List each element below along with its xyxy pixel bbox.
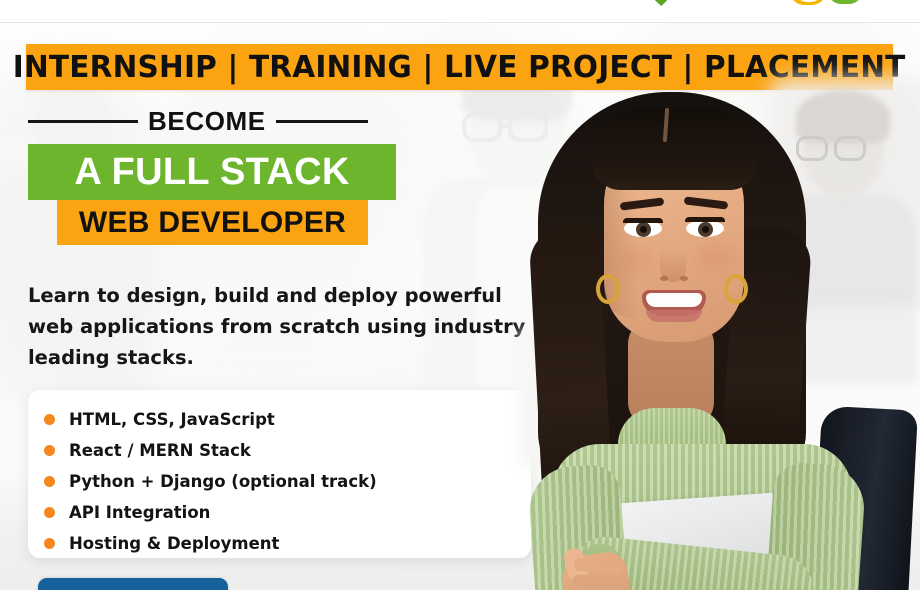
headline-block: BECOME A FULL STACK WEB DEVELOPER <box>28 106 428 245</box>
poster-canvas: INTERNSHIP | TRAINING | LIVE PROJECT | P… <box>0 0 920 590</box>
hoop-earring-right <box>724 274 748 304</box>
headline-band-orange: WEB DEVELOPER <box>57 200 368 245</box>
hair-fringe <box>592 108 758 190</box>
list-item: HTML, CSS, JavaScript <box>44 404 531 435</box>
feature-card: HTML, CSS, JavaScript React / MERN Stack… <box>28 390 531 558</box>
top-header-bar <box>0 0 920 23</box>
feature-label: API Integration <box>69 503 210 522</box>
headline-orange-text: WEB DEVELOPER <box>79 206 346 240</box>
bullet-dot-icon <box>44 414 55 425</box>
feature-label: HTML, CSS, JavaScript <box>69 410 275 429</box>
list-item: React / MERN Stack <box>44 435 531 466</box>
feature-label: Hosting & Deployment <box>69 534 279 553</box>
cta-button[interactable] <box>38 578 228 590</box>
kicker-text: BECOME <box>148 106 266 137</box>
hoop-earring-left <box>596 274 620 304</box>
kicker-rule-left <box>28 120 138 123</box>
kicker-row: BECOME <box>28 106 428 136</box>
headline-band-green: A FULL STACK <box>28 144 396 200</box>
top-header-inner <box>10 0 910 22</box>
kicker-rule-right <box>276 120 368 123</box>
list-item: Python + Django (optional track) <box>44 466 531 497</box>
feature-label: Python + Django (optional track) <box>69 472 377 491</box>
bullet-dot-icon <box>44 507 55 518</box>
bullet-dot-icon <box>44 445 55 456</box>
headline-green-text: A FULL STACK <box>74 151 349 194</box>
bullet-dot-icon <box>44 476 55 487</box>
list-item: Hosting & Deployment <box>44 528 531 559</box>
description-text: Learn to design, build and deploy powerf… <box>28 280 548 373</box>
bullet-dot-icon <box>44 538 55 549</box>
student-photo <box>500 78 920 590</box>
feature-label: React / MERN Stack <box>69 441 251 460</box>
list-item: API Integration <box>44 497 531 528</box>
